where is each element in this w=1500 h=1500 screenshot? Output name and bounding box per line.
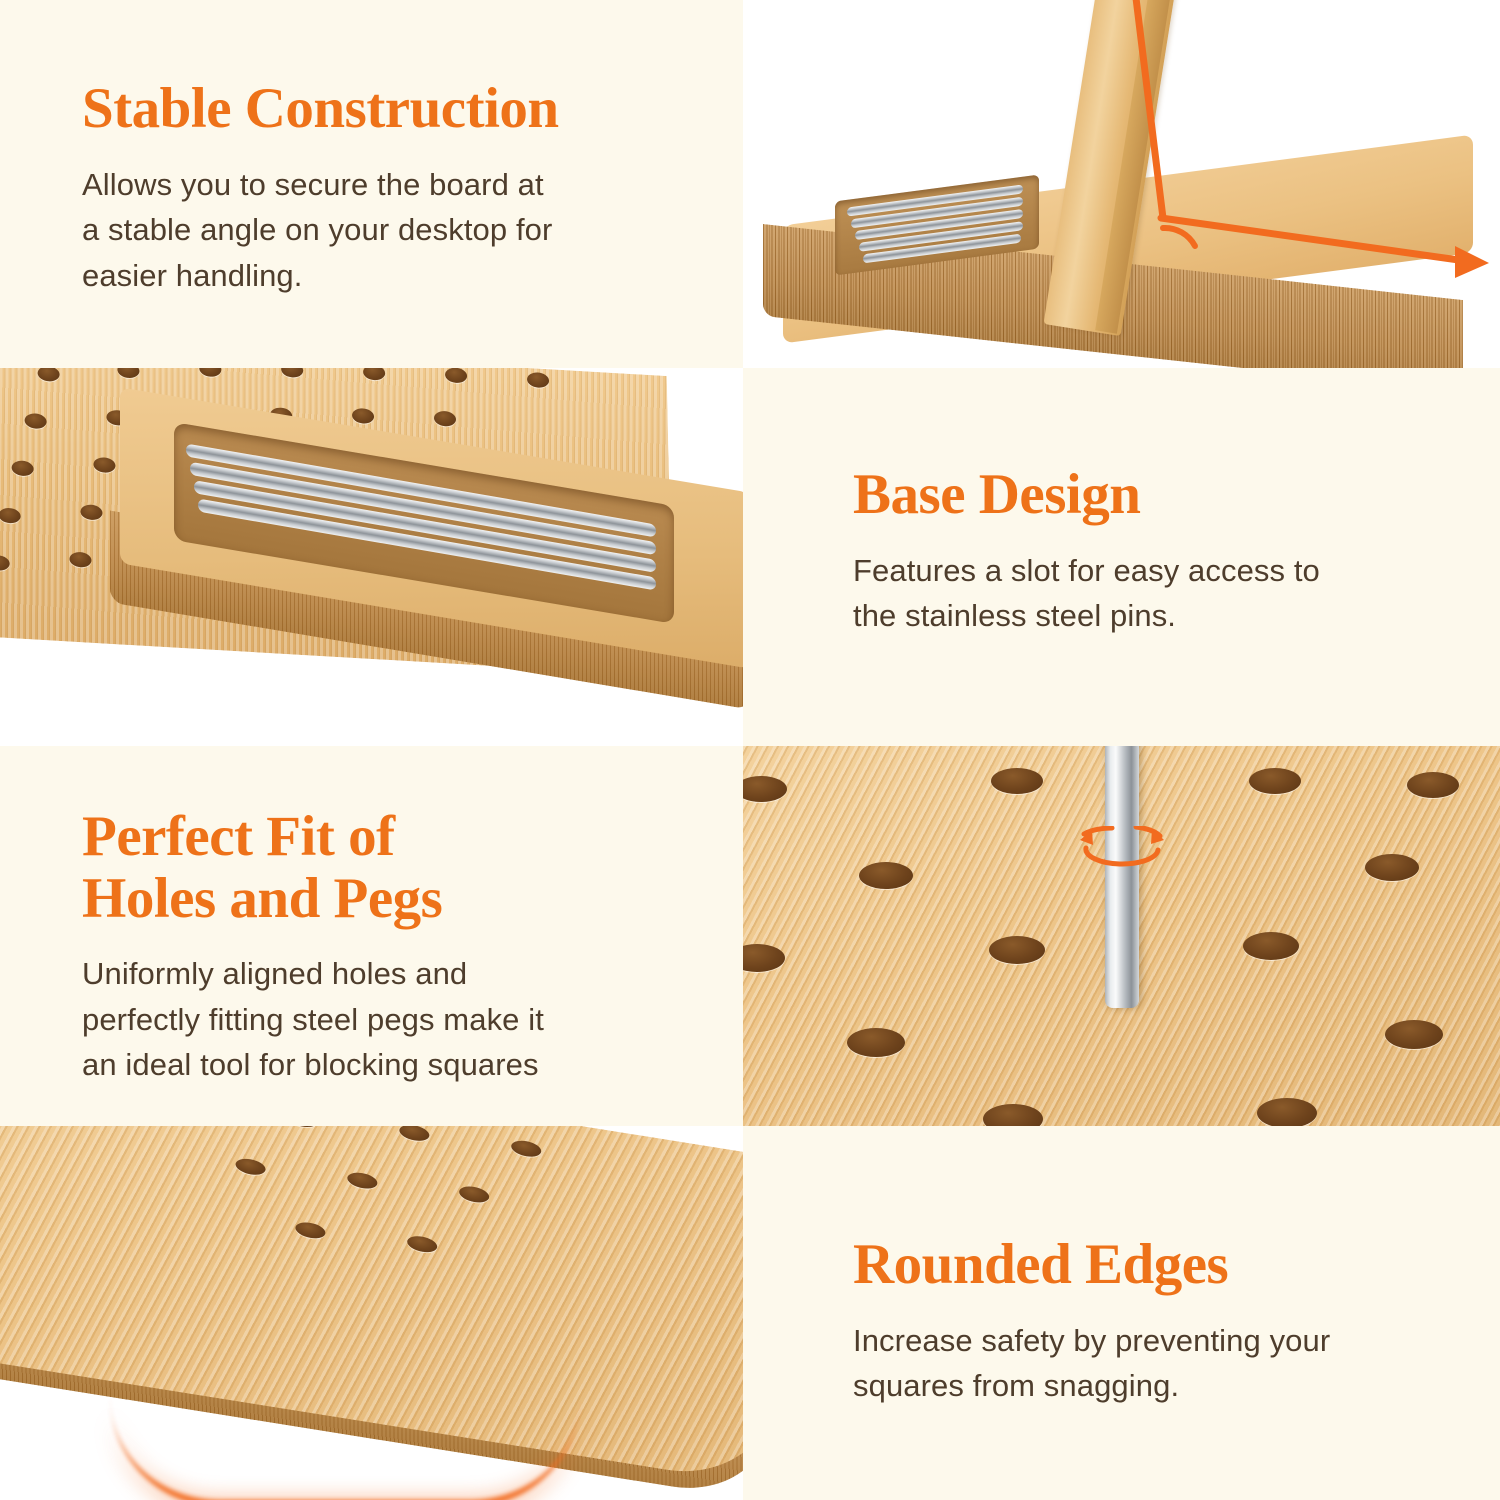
peg-hole xyxy=(363,368,385,381)
peg-hole xyxy=(991,768,1043,794)
feature-title-base-design: Base Design xyxy=(853,464,1440,526)
feature-title-perfect-fit: Perfect Fit of Holes and Pegs xyxy=(82,806,687,929)
peg-hole xyxy=(511,1139,542,1159)
infographic-sheet: Stable Construction Allows you to secure… xyxy=(0,0,1500,1500)
peg-hole xyxy=(527,372,549,388)
feature-body-base-design: Features a slot for easy access to the s… xyxy=(853,548,1440,639)
peg-hole xyxy=(0,507,21,523)
peg-hole xyxy=(1407,772,1459,798)
peg-hole xyxy=(117,368,139,379)
feature-panel-rounded-edges: Rounded Edges Increase safety by prevent… xyxy=(743,1126,1500,1500)
feature-panel-perfect-fit: Perfect Fit of Holes and Pegs Uniformly … xyxy=(0,746,743,1126)
rotation-arrow-icon xyxy=(1058,826,1186,882)
feature-title-stable-construction: Stable Construction xyxy=(82,78,687,140)
angle-arrow-icon xyxy=(743,0,1500,368)
peg-hole xyxy=(347,1171,378,1191)
peg-hole xyxy=(37,368,59,382)
peg-hole xyxy=(80,504,102,520)
pegboard-closeup-surface xyxy=(743,746,1500,1126)
peg-hole xyxy=(24,413,46,429)
peg-hole xyxy=(1385,1020,1443,1049)
peg-hole xyxy=(1249,768,1301,794)
peg-hole xyxy=(1243,932,1299,960)
peg-hole xyxy=(93,457,115,473)
photo-perfect-fit xyxy=(743,746,1500,1126)
peg-hole xyxy=(859,862,913,889)
feature-title-rounded-edges: Rounded Edges xyxy=(853,1234,1440,1296)
feature-body-stable-construction: Allows you to secure the board at a stab… xyxy=(82,162,687,299)
peg-hole xyxy=(287,1126,318,1129)
peg-hole xyxy=(989,936,1045,964)
peg-hole xyxy=(743,776,787,802)
peg-hole xyxy=(847,1028,905,1057)
feature-panel-stable-construction: Stable Construction Allows you to secure… xyxy=(0,0,743,368)
peg-hole xyxy=(69,552,91,568)
peg-hole xyxy=(235,1157,266,1177)
photo-rounded-edges xyxy=(0,1126,743,1500)
peg-hole xyxy=(281,368,303,378)
peg-hole xyxy=(407,1234,438,1254)
photo-base-design xyxy=(0,368,743,746)
peg-hole xyxy=(1365,854,1419,881)
peg-hole xyxy=(434,411,456,427)
peg-hole xyxy=(295,1220,326,1240)
photo-stable-construction xyxy=(743,0,1500,368)
peg-hole xyxy=(983,1104,1043,1126)
feature-panel-base-design: Base Design Features a slot for easy acc… xyxy=(743,368,1500,746)
peg-hole xyxy=(11,460,33,476)
peg-hole xyxy=(459,1184,490,1204)
feature-body-perfect-fit: Uniformly aligned holes and perfectly fi… xyxy=(82,951,687,1088)
peg-hole xyxy=(0,555,10,571)
feature-body-rounded-edges: Increase safety by preventing your squar… xyxy=(853,1318,1440,1409)
peg-hole xyxy=(399,1126,430,1143)
peg-hole xyxy=(1257,1098,1317,1126)
peg-hole xyxy=(445,368,467,383)
peg-hole xyxy=(199,368,221,377)
edge-glow-core xyxy=(110,1340,580,1500)
peg-hole xyxy=(743,944,785,972)
peg-hole xyxy=(352,408,374,424)
